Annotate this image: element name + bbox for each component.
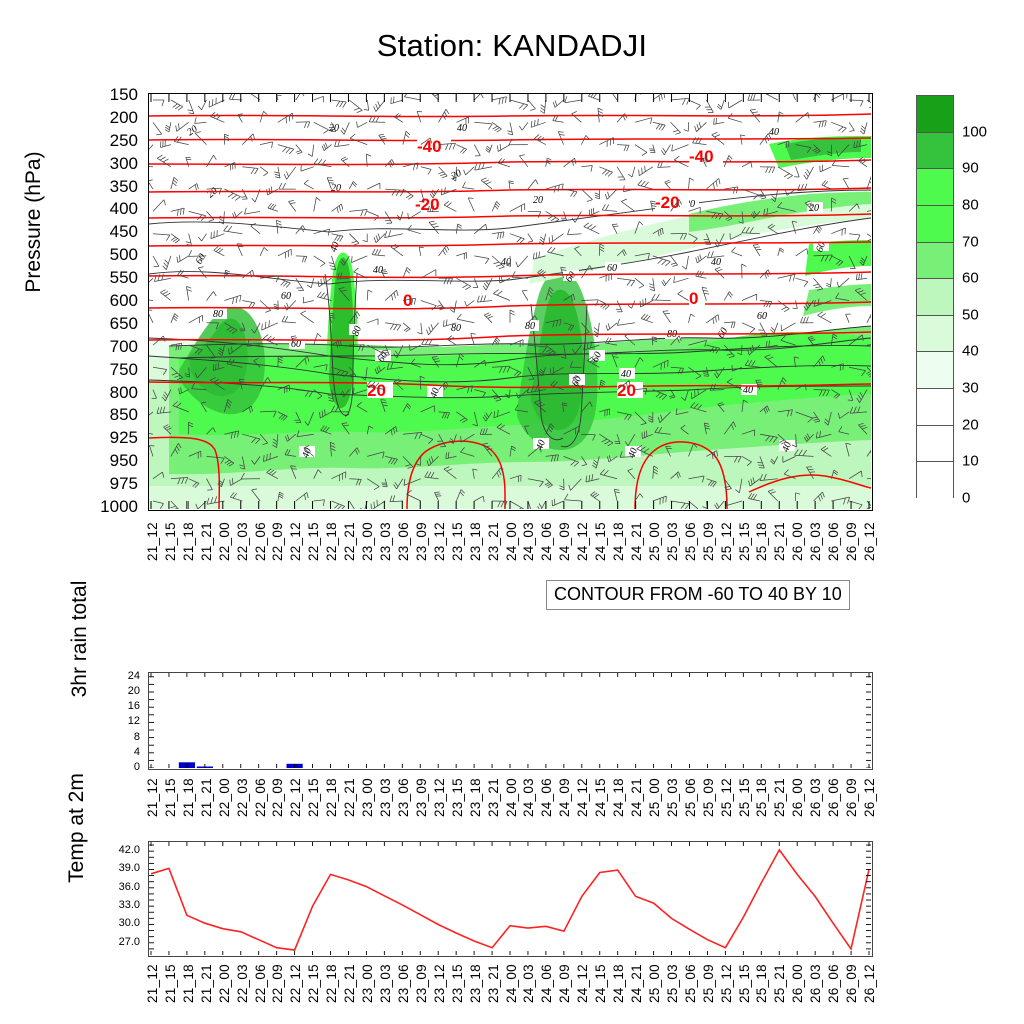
xaxis-tick-22_12: 22_12 xyxy=(288,778,303,817)
xaxis-tick-25_21: 25_21 xyxy=(772,964,787,1003)
xaxis-tick-26_00: 26_00 xyxy=(790,964,805,1003)
xaxis-tick-23_09: 23_09 xyxy=(414,964,429,1003)
temp-ytick-39.0: 39.0 xyxy=(96,862,140,874)
xaxis-tick-23_12: 23_12 xyxy=(432,778,447,817)
svg-text:-20: -20 xyxy=(655,193,680,212)
xaxis-tick-25_03: 25_03 xyxy=(665,522,680,561)
xaxis-tick-25_03: 25_03 xyxy=(665,964,680,1003)
xaxis-tick-23_18: 23_18 xyxy=(468,778,483,817)
xaxis-tick-23_12: 23_12 xyxy=(432,964,447,1003)
xaxis-tick-22_00: 22_00 xyxy=(217,522,232,561)
xaxis-tick-25_12: 25_12 xyxy=(719,522,734,561)
xaxis-tick-22_03: 22_03 xyxy=(235,778,250,817)
xaxis-tick-23_15: 23_15 xyxy=(450,522,465,561)
svg-text:40: 40 xyxy=(621,369,631,380)
xaxis-tick-24_12: 24_12 xyxy=(575,522,590,561)
temp-ytick-27.0: 27.0 xyxy=(96,936,140,948)
xaxis-tick-21_15: 21_15 xyxy=(163,964,178,1003)
rain-xaxis-labels: 21_1221_1521_1821_2122_0022_0322_0622_09… xyxy=(148,776,873,832)
xaxis-tick-26_09: 26_09 xyxy=(844,522,859,561)
xaxis-tick-26_03: 26_03 xyxy=(808,778,823,817)
xaxis-tick-24_06: 24_06 xyxy=(539,964,554,1003)
xaxis-tick-24_21: 24_21 xyxy=(629,964,644,1003)
colorbar-segment-40 xyxy=(917,316,953,353)
xaxis-tick-25_00: 25_00 xyxy=(647,778,662,817)
pressure-tick-975: 975 xyxy=(110,474,138,494)
xaxis-tick-23_03: 23_03 xyxy=(378,522,393,561)
pressure-tick-200: 200 xyxy=(110,108,138,128)
xaxis-tick-21_21: 21_21 xyxy=(199,522,214,561)
xaxis-tick-22_15: 22_15 xyxy=(306,778,321,817)
xaxis-tick-23_00: 23_00 xyxy=(360,522,375,561)
colorbar-segment-10 xyxy=(917,426,953,463)
xaxis-tick-22_21: 22_21 xyxy=(342,964,357,1003)
xaxis-tick-24_15: 24_15 xyxy=(593,964,608,1003)
xaxis-tick-25_12: 25_12 xyxy=(719,778,734,817)
xaxis-tick-26_12: 26_12 xyxy=(862,964,877,1003)
xaxis-tick-24_21: 24_21 xyxy=(629,778,644,817)
xaxis-tick-26_00: 26_00 xyxy=(790,522,805,561)
svg-text:80: 80 xyxy=(451,323,461,334)
colorbar-label-50: 50 xyxy=(962,306,979,323)
xaxis-tick-21_15: 21_15 xyxy=(163,778,178,817)
pressure-tick-925: 925 xyxy=(110,428,138,448)
xaxis-tick-22_21: 22_21 xyxy=(342,778,357,817)
xaxis-tick-26_03: 26_03 xyxy=(808,522,823,561)
xaxis-tick-22_18: 22_18 xyxy=(324,964,339,1003)
svg-text:0: 0 xyxy=(689,289,698,308)
xaxis-tick-23_21: 23_21 xyxy=(486,964,501,1003)
svg-text:40: 40 xyxy=(711,257,721,268)
xaxis-tick-22_06: 22_06 xyxy=(253,778,268,817)
xaxis-tick-22_06: 22_06 xyxy=(253,964,268,1003)
xaxis-tick-26_03: 26_03 xyxy=(808,964,823,1003)
colorbar-label-0: 0 xyxy=(962,490,970,507)
colorbar-segment-30 xyxy=(917,352,953,389)
pressure-tick-350: 350 xyxy=(110,177,138,197)
rain-ytick-4: 4 xyxy=(106,746,140,758)
temp-ytick-42.0: 42.0 xyxy=(96,844,140,856)
xaxis-tick-21_21: 21_21 xyxy=(199,778,214,817)
colorbar-label-10: 10 xyxy=(962,453,979,470)
xaxis-tick-24_09: 24_09 xyxy=(557,964,572,1003)
page-title: Station: KANDADJI xyxy=(0,28,1024,64)
xaxis-tick-25_21: 25_21 xyxy=(772,522,787,561)
temp-line xyxy=(151,850,869,950)
xaxis-tick-24_00: 24_00 xyxy=(504,522,519,561)
pressure-tick-150: 150 xyxy=(110,85,138,105)
pressure-tick-500: 500 xyxy=(110,245,138,265)
xaxis-tick-24_06: 24_06 xyxy=(539,778,554,817)
xaxis-tick-25_00: 25_00 xyxy=(647,964,662,1003)
xaxis-tick-21_12: 21_12 xyxy=(145,522,160,561)
xaxis-tick-25_06: 25_06 xyxy=(683,522,698,561)
sounding-contour-plot: 20 20 20 20 40 20 20 40 20 20 60 40 40 4… xyxy=(148,93,873,511)
pressure-tick-250: 250 xyxy=(110,131,138,151)
xaxis-tick-25_06: 25_06 xyxy=(683,778,698,817)
humidity-colorbar xyxy=(916,95,954,498)
xaxis-tick-22_12: 22_12 xyxy=(288,964,303,1003)
xaxis-tick-21_12: 21_12 xyxy=(145,778,160,817)
svg-text:-40: -40 xyxy=(689,147,714,166)
xaxis-tick-26_12: 26_12 xyxy=(862,522,877,561)
xaxis-tick-26_00: 26_00 xyxy=(790,778,805,817)
svg-text:20: 20 xyxy=(533,195,543,206)
svg-text:-40: -40 xyxy=(417,137,442,156)
xaxis-tick-25_03: 25_03 xyxy=(665,778,680,817)
xaxis-tick-24_03: 24_03 xyxy=(521,522,536,561)
xaxis-tick-25_09: 25_09 xyxy=(701,522,716,561)
xaxis-tick-24_18: 24_18 xyxy=(611,964,626,1003)
pressure-tick-1000: 1000 xyxy=(100,497,138,517)
xaxis-tick-23_15: 23_15 xyxy=(450,964,465,1003)
colorbar-segment-90 xyxy=(917,133,953,170)
main-yaxis-labels: 1502002503003504004505005506006507007508… xyxy=(0,93,146,511)
xaxis-tick-22_09: 22_09 xyxy=(270,522,285,561)
xaxis-tick-25_00: 25_00 xyxy=(647,522,662,561)
xaxis-tick-24_09: 24_09 xyxy=(557,522,572,561)
xaxis-tick-25_15: 25_15 xyxy=(737,522,752,561)
colorbar-segment-20 xyxy=(917,389,953,426)
xaxis-tick-26_12: 26_12 xyxy=(862,778,877,817)
xaxis-tick-26_06: 26_06 xyxy=(826,522,841,561)
xaxis-tick-24_18: 24_18 xyxy=(611,778,626,817)
xaxis-tick-22_18: 22_18 xyxy=(324,778,339,817)
pressure-tick-800: 800 xyxy=(110,383,138,403)
xaxis-tick-26_09: 26_09 xyxy=(844,778,859,817)
colorbar-segment-70 xyxy=(917,206,953,243)
xaxis-tick-23_06: 23_06 xyxy=(396,778,411,817)
colorbar-segment-60 xyxy=(917,243,953,280)
xaxis-tick-23_00: 23_00 xyxy=(360,964,375,1003)
colorbar-segment-80 xyxy=(917,169,953,206)
xaxis-tick-24_15: 24_15 xyxy=(593,778,608,817)
xaxis-tick-24_15: 24_15 xyxy=(593,522,608,561)
pressure-tick-300: 300 xyxy=(110,154,138,174)
xaxis-tick-23_06: 23_06 xyxy=(396,522,411,561)
xaxis-tick-21_18: 21_18 xyxy=(181,522,196,561)
xaxis-tick-22_12: 22_12 xyxy=(288,522,303,561)
rain-ytick-24: 24 xyxy=(106,670,140,682)
colorbar-label-60: 60 xyxy=(962,270,979,287)
xaxis-tick-21_15: 21_15 xyxy=(163,522,178,561)
colorbar-label-30: 30 xyxy=(962,380,979,397)
pressure-tick-750: 750 xyxy=(110,360,138,380)
xaxis-tick-25_18: 25_18 xyxy=(754,964,769,1003)
colorbar-label-40: 40 xyxy=(962,343,979,360)
xaxis-tick-25_15: 25_15 xyxy=(737,778,752,817)
xaxis-tick-23_09: 23_09 xyxy=(414,522,429,561)
colorbar-segment-50 xyxy=(917,279,953,316)
xaxis-tick-22_00: 22_00 xyxy=(217,778,232,817)
rain-ytick-12: 12 xyxy=(106,715,140,727)
colorbar-segment-100 xyxy=(917,96,953,133)
pressure-tick-950: 950 xyxy=(110,451,138,471)
pressure-tick-600: 600 xyxy=(110,291,138,311)
xaxis-tick-23_18: 23_18 xyxy=(468,522,483,561)
xaxis-tick-24_09: 24_09 xyxy=(557,778,572,817)
main-xaxis-labels: 21_1221_1521_1821_2122_0022_0322_0622_09… xyxy=(148,520,873,578)
svg-text:40: 40 xyxy=(457,123,467,134)
xaxis-tick-25_15: 25_15 xyxy=(737,964,752,1003)
xaxis-tick-25_21: 25_21 xyxy=(772,778,787,817)
svg-text:80: 80 xyxy=(525,321,535,332)
xaxis-tick-23_06: 23_06 xyxy=(396,964,411,1003)
xaxis-tick-21_18: 21_18 xyxy=(181,964,196,1003)
xaxis-tick-25_18: 25_18 xyxy=(754,522,769,561)
xaxis-tick-22_03: 22_03 xyxy=(235,522,250,561)
xaxis-tick-23_21: 23_21 xyxy=(486,778,501,817)
pressure-tick-850: 850 xyxy=(110,405,138,425)
xaxis-tick-25_09: 25_09 xyxy=(701,964,716,1003)
xaxis-tick-22_09: 22_09 xyxy=(270,778,285,817)
xaxis-tick-26_06: 26_06 xyxy=(826,778,841,817)
colorbar-segment-0 xyxy=(917,462,953,499)
xaxis-tick-24_03: 24_03 xyxy=(521,778,536,817)
xaxis-tick-23_09: 23_09 xyxy=(414,778,429,817)
svg-text:60: 60 xyxy=(281,291,291,302)
temp-ytick-30.0: 30.0 xyxy=(96,917,140,929)
xaxis-tick-22_09: 22_09 xyxy=(270,964,285,1003)
temp-ytick-36.0: 36.0 xyxy=(96,881,140,893)
pressure-tick-700: 700 xyxy=(110,337,138,357)
xaxis-tick-26_09: 26_09 xyxy=(844,964,859,1003)
xaxis-tick-25_18: 25_18 xyxy=(754,778,769,817)
contour-legend: CONTOUR FROM -60 TO 40 BY 10 xyxy=(546,580,850,610)
xaxis-tick-23_18: 23_18 xyxy=(468,964,483,1003)
xaxis-tick-22_03: 22_03 xyxy=(235,964,250,1003)
xaxis-tick-24_12: 24_12 xyxy=(575,778,590,817)
pressure-tick-450: 450 xyxy=(110,222,138,242)
xaxis-tick-26_06: 26_06 xyxy=(826,964,841,1003)
temp-panel-title: Temp at 2m xyxy=(65,703,89,953)
xaxis-tick-22_18: 22_18 xyxy=(324,522,339,561)
xaxis-tick-22_15: 22_15 xyxy=(306,522,321,561)
rain-ytick-16: 16 xyxy=(106,700,140,712)
svg-text:60: 60 xyxy=(607,263,617,274)
temperature-2m-plot xyxy=(148,841,873,957)
xaxis-tick-22_06: 22_06 xyxy=(253,522,268,561)
xaxis-tick-25_06: 25_06 xyxy=(683,964,698,1003)
xaxis-tick-21_21: 21_21 xyxy=(199,964,214,1003)
colorbar-label-90: 90 xyxy=(962,160,979,177)
svg-text:40: 40 xyxy=(769,127,779,138)
xaxis-tick-23_03: 23_03 xyxy=(378,964,393,1003)
temp-ytick-33.0: 33.0 xyxy=(96,899,140,911)
xaxis-tick-21_18: 21_18 xyxy=(181,778,196,817)
rain-total-plot xyxy=(148,672,873,770)
pressure-tick-550: 550 xyxy=(110,268,138,288)
rain-ytick-20: 20 xyxy=(106,685,140,697)
xaxis-tick-23_21: 23_21 xyxy=(486,522,501,561)
rain-ytick-8: 8 xyxy=(106,731,140,743)
rain-svg xyxy=(149,673,871,768)
xaxis-tick-22_15: 22_15 xyxy=(306,964,321,1003)
xaxis-tick-24_06: 24_06 xyxy=(539,522,554,561)
colorbar-label-80: 80 xyxy=(962,196,979,213)
xaxis-tick-25_09: 25_09 xyxy=(701,778,716,817)
colorbar-label-70: 70 xyxy=(962,233,979,250)
rain-ytick-0: 0 xyxy=(106,761,140,773)
xaxis-tick-22_00: 22_00 xyxy=(217,964,232,1003)
xaxis-tick-24_12: 24_12 xyxy=(575,964,590,1003)
svg-text:60: 60 xyxy=(757,311,767,322)
xaxis-tick-23_00: 23_00 xyxy=(360,778,375,817)
xaxis-tick-24_00: 24_00 xyxy=(504,964,519,1003)
xaxis-tick-25_12: 25_12 xyxy=(719,964,734,1003)
sounding-svg: 20 20 20 20 40 20 20 40 20 20 60 40 40 4… xyxy=(149,94,871,509)
xaxis-tick-24_18: 24_18 xyxy=(611,522,626,561)
pressure-tick-650: 650 xyxy=(110,314,138,334)
colorbar-label-100: 100 xyxy=(962,123,987,140)
xaxis-tick-23_03: 23_03 xyxy=(378,778,393,817)
xaxis-tick-24_03: 24_03 xyxy=(521,964,536,1003)
svg-text:20: 20 xyxy=(367,381,386,400)
xaxis-tick-21_12: 21_12 xyxy=(145,964,160,1003)
colorbar-label-20: 20 xyxy=(962,416,979,433)
xaxis-tick-23_15: 23_15 xyxy=(450,778,465,817)
xaxis-tick-22_21: 22_21 xyxy=(342,522,357,561)
xaxis-tick-24_21: 24_21 xyxy=(629,522,644,561)
temp-xaxis-labels: 21_1221_1521_1821_2122_0022_0322_0622_09… xyxy=(148,962,873,1018)
xaxis-tick-23_12: 23_12 xyxy=(432,522,447,561)
pressure-tick-400: 400 xyxy=(110,199,138,219)
xaxis-tick-24_00: 24_00 xyxy=(504,778,519,817)
svg-text:80: 80 xyxy=(213,309,223,320)
temp-svg xyxy=(149,842,871,955)
